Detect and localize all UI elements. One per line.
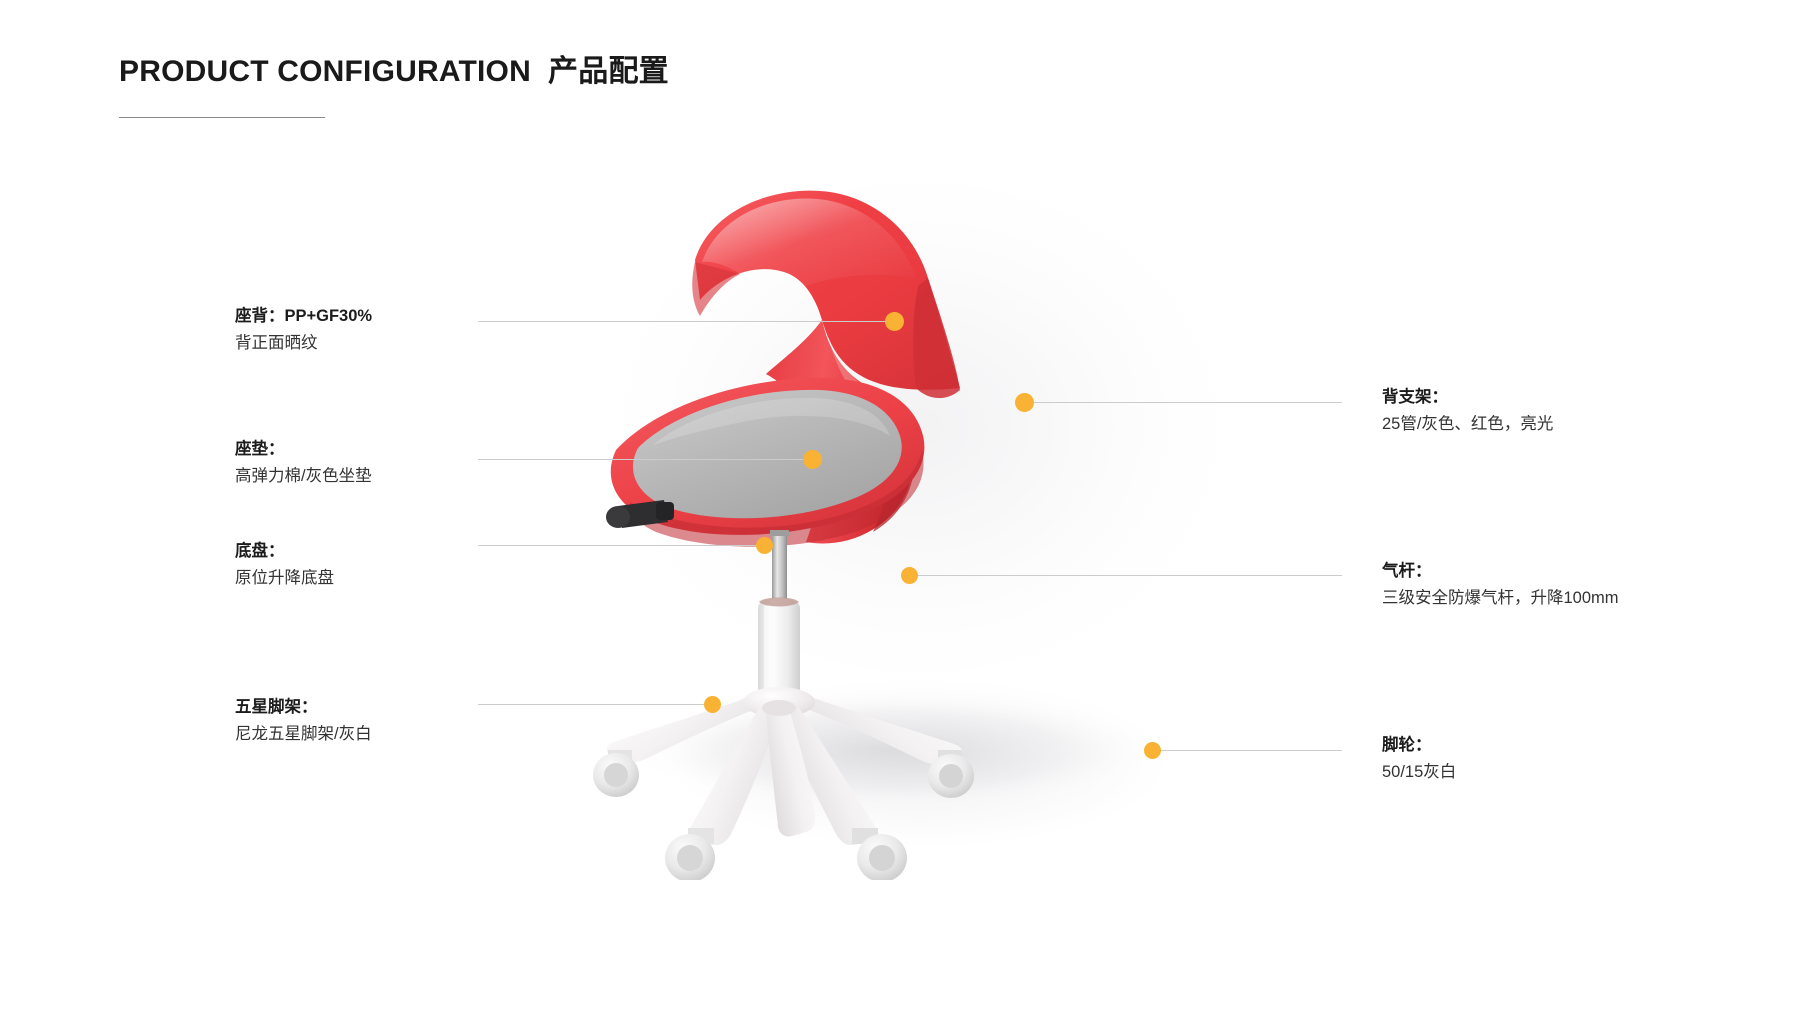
product-configuration-page: PRODUCT CONFIGURATION 产品配置: [0, 0, 1800, 1013]
page-title-zh: 产品配置: [548, 55, 669, 88]
base-hub-cap: [762, 700, 796, 716]
leader-line-gas-lift: [910, 575, 1342, 576]
callout-label-chassis-title: 底盘：: [235, 538, 334, 565]
leader-line-chassis: [478, 545, 764, 546]
callout-label-gas-lift-detail: 三级安全防爆气杆，升降100mm: [1382, 585, 1619, 612]
callout-label-five-star-base: 五星脚架： 尼龙五星脚架/灰白: [235, 694, 372, 747]
callout-label-caster-title: 脚轮：: [1382, 732, 1456, 759]
callout-label-seat-cushion-detail: 高弹力棉/灰色坐垫: [235, 463, 372, 490]
callout-label-back-bracket-detail: 25管/灰色、红色，亮光: [1382, 411, 1553, 438]
page-title-en: PRODUCT CONFIGURATION: [119, 55, 531, 88]
product-image-stage: [560, 150, 1280, 880]
callout-label-chassis-detail: 原位升降底盘: [235, 565, 334, 592]
callout-label-seat-back-detail: 背正面晒纹: [235, 330, 372, 357]
callout-dot-five-star-base[interactable]: [704, 696, 721, 713]
callout-label-seat-cushion-title: 座垫：: [235, 436, 372, 463]
callout-label-seat-cushion: 座垫： 高弹力棉/灰色坐垫: [235, 436, 372, 489]
leader-line-seat-back: [478, 321, 896, 322]
callout-label-five-star-base-title: 五星脚架：: [235, 694, 372, 721]
gas-lift-sleeve-highlight: [764, 606, 771, 698]
callout-label-five-star-base-detail: 尼龙五星脚架/灰白: [235, 721, 372, 748]
callout-label-seat-back-title: 座背：PP+GF30%: [235, 303, 372, 330]
leader-line-back-bracket: [1024, 402, 1342, 403]
callout-label-chassis: 底盘： 原位升降底盘: [235, 538, 334, 591]
callout-label-gas-lift-title: 气杆：: [1382, 558, 1619, 585]
chair-illustration: [560, 150, 1280, 880]
caster-front-right: [852, 828, 907, 880]
callout-dot-seat-cushion[interactable]: [803, 450, 822, 469]
title-underline-divider: [119, 117, 325, 118]
callout-label-gas-lift: 气杆： 三级安全防爆气杆，升降100mm: [1382, 558, 1619, 611]
callout-dot-gas-lift[interactable]: [901, 567, 918, 584]
leader-line-seat-cushion: [478, 459, 812, 460]
callout-dot-back-bracket[interactable]: [1015, 393, 1034, 412]
page-title-text: PRODUCT CONFIGURATION 产品配置: [119, 55, 669, 88]
callout-dot-chassis[interactable]: [756, 537, 773, 554]
leader-line-caster: [1152, 750, 1342, 751]
gas-lift-rod-cap: [770, 530, 789, 536]
backrest-right-wing: [913, 278, 960, 398]
callout-dot-seat-back[interactable]: [885, 312, 904, 331]
leader-line-five-star-base: [478, 704, 712, 705]
callout-label-caster: 脚轮： 50/15灰白: [1382, 732, 1456, 785]
caster-front-left: [665, 828, 715, 880]
callout-dot-caster[interactable]: [1144, 742, 1161, 759]
callout-label-back-bracket: 背支架： 25管/灰色、红色，亮光: [1382, 384, 1553, 437]
floor-shadow: [620, 692, 1160, 808]
callout-label-back-bracket-title: 背支架：: [1382, 384, 1553, 411]
callout-label-caster-detail: 50/15灰白: [1382, 759, 1456, 786]
page-title: PRODUCT CONFIGURATION 产品配置: [119, 55, 669, 88]
callout-label-seat-back: 座背：PP+GF30% 背正面晒纹: [235, 303, 372, 356]
